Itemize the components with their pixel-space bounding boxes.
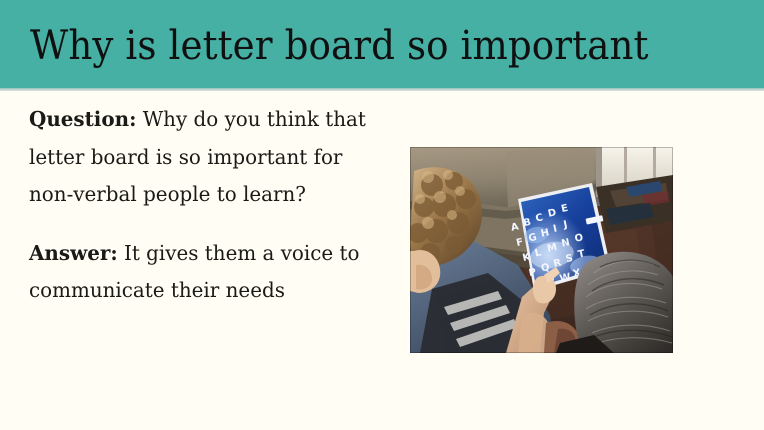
photo-illustration: ABC DE FGH IJ KLM NO PQR ST UVW XY — [410, 147, 673, 353]
page-title: Why is letter board so important — [30, 16, 681, 76]
photo-image: ABC DE FGH IJ KLM NO PQR ST UVW XY — [410, 147, 673, 353]
question-paragraph: Question: Why do you think that letter b… — [29, 101, 370, 214]
title-band-divider — [0, 88, 764, 91]
svg-text:W: W — [559, 272, 572, 285]
question-label: Question: — [29, 107, 136, 131]
body-text-column: Question: Why do you think that letter b… — [29, 101, 381, 310]
answer-label: Answer: — [29, 241, 118, 265]
letter-board-photo: ABC DE FGH IJ KLM NO PQR ST UVW XY — [410, 147, 673, 353]
answer-paragraph: Answer: It gives them a voice to communi… — [29, 235, 370, 310]
slide: Why is letter board so important Questio… — [0, 0, 764, 430]
